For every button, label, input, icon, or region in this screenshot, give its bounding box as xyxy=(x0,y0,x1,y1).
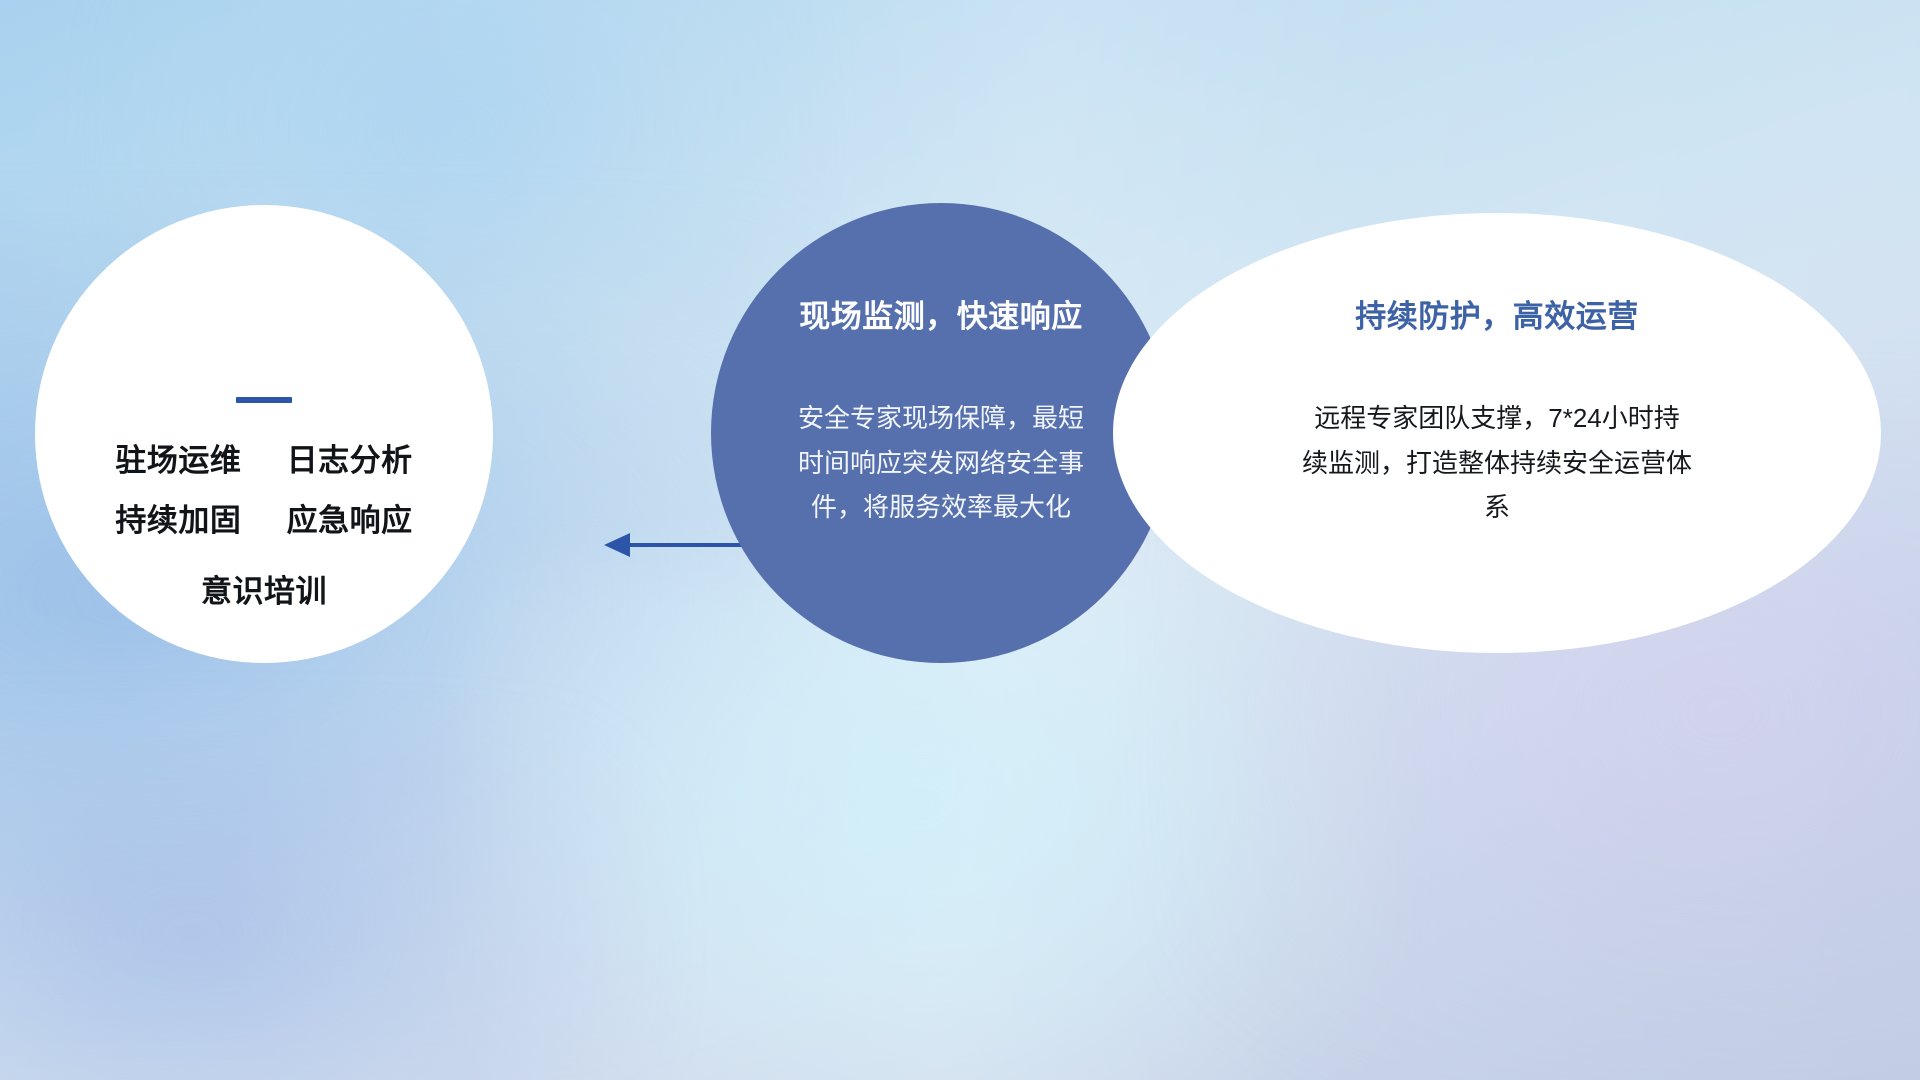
capability-item: 持续加固 xyxy=(115,503,241,538)
capability-item: 日志分析 xyxy=(287,443,413,478)
capability-row: 驻场运维 日志分析 xyxy=(115,445,412,476)
remote-operations-circle[interactable]: 持续防护，高效运营 远程专家团队支撑，7*24小时持续监测，打造整体持续安全运营… xyxy=(1113,213,1881,653)
diagram-stage: 驻场运维 日志分析 持续加固 应急响应 意识培训 现场监测，快速响应 安全专家现… xyxy=(0,0,1920,1080)
capability-item: 驻场运维 xyxy=(115,443,241,478)
onsite-monitoring-title: 现场监测，快速响应 xyxy=(799,291,1083,336)
capability-item: 应急响应 xyxy=(287,503,413,538)
remote-operations-body: 远程专家团队支撑，7*24小时持续监测，打造整体持续安全运营体系 xyxy=(1302,396,1692,530)
capability-row: 持续加固 应急响应 xyxy=(115,505,412,536)
remote-operations-title: 持续防护，高效运营 xyxy=(1355,291,1639,336)
capabilities-circle[interactable]: 驻场运维 日志分析 持续加固 应急响应 意识培训 xyxy=(35,205,493,663)
capability-item: 意识培训 xyxy=(201,574,327,609)
capabilities-list: 驻场运维 日志分析 持续加固 应急响应 意识培训 xyxy=(115,445,412,607)
accent-divider-icon xyxy=(236,397,292,403)
onsite-monitoring-circle[interactable]: 现场监测，快速响应 安全专家现场保障，最短时间响应突发网络安全事件，将服务效率最… xyxy=(711,203,1171,663)
capability-row: 意识培训 xyxy=(115,576,412,607)
onsite-monitoring-body: 安全专家现场保障，最短时间响应突发网络安全事件，将服务效率最大化 xyxy=(791,396,1091,530)
